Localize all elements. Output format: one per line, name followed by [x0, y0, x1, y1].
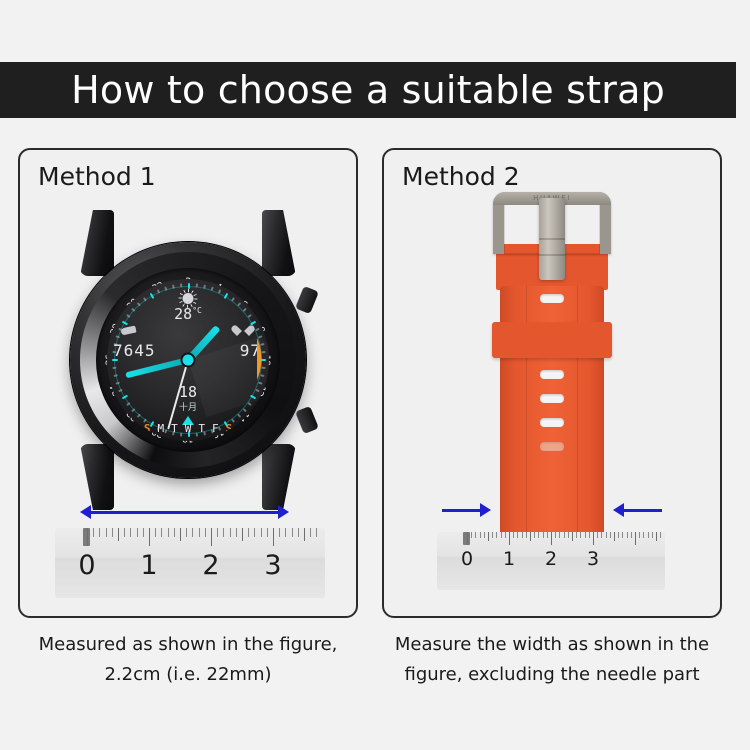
ruler-tick [614, 532, 615, 541]
ruler-tick [597, 532, 598, 538]
dial-tick [172, 284, 175, 288]
ruler-tick [292, 528, 293, 537]
ruler-method-2: 0123 [437, 532, 665, 590]
watch-lug-top-right [262, 210, 296, 276]
ruler-tick [576, 532, 577, 538]
ruler-tick [217, 528, 218, 537]
method-1-caption: Measured as shown in the figure, 2.2cm (… [18, 630, 358, 690]
ruler-tick [471, 532, 472, 538]
ruler-tick [304, 528, 305, 541]
caption-line-2: 2.2cm (i.e. 22mm) [18, 660, 358, 690]
method-2-caption: Measure the width as shown in the figure… [382, 630, 722, 690]
watch-lug-bottom-right [262, 444, 296, 510]
ruler-tick [627, 532, 628, 538]
watch-case: 1820222426283032246810121416 28°C 7645 [70, 242, 306, 478]
tongue-line-2 [539, 254, 565, 256]
ruler-tick [267, 528, 268, 537]
ruler-number: 1 [140, 550, 157, 581]
ruler-tick [509, 532, 510, 545]
ruler-tick [551, 532, 552, 545]
ruler-tick [137, 528, 138, 537]
ruler-tick [610, 532, 611, 538]
strap-hole [540, 294, 564, 303]
dial-tick [243, 308, 247, 312]
temperature-readout: 28°C [174, 305, 202, 323]
page-header-banner: How to choose a suitable strap [0, 62, 736, 118]
watch-dial: 28°C 7645 97 18 十月 SMTWTFS [107, 279, 269, 441]
ruler-tick [543, 532, 544, 538]
dial-tick [164, 286, 167, 290]
arrow-shaft-right [622, 509, 662, 512]
ruler-tick [205, 528, 206, 537]
ruler-number: 3 [264, 550, 281, 581]
watch-strap-illustration: HUAWEI [462, 192, 642, 542]
ruler-tick [547, 532, 548, 538]
ruler-number: 2 [545, 548, 557, 570]
smartwatch-illustration: 1820222426283032246810121416 28°C 7645 [58, 210, 318, 510]
watch-crown-upper[interactable] [295, 286, 319, 314]
method-1-panel: Method 1 1820222426283032246810121416 [18, 148, 358, 618]
ruler-tick [298, 528, 299, 537]
dial-tick [157, 289, 160, 293]
tongue-line-1 [539, 238, 565, 240]
ruler-tick [568, 532, 569, 538]
dial-tick [237, 302, 241, 306]
arrow-shaft-left [442, 509, 482, 512]
ruler-tick [534, 532, 535, 538]
dial-tick [237, 414, 241, 418]
ruler-tick [522, 532, 523, 538]
ruler-tick [155, 528, 156, 537]
watch-crown-lower[interactable] [295, 406, 319, 434]
temperature-value: 28 [174, 305, 192, 323]
ruler-tick [261, 528, 262, 537]
ruler-tick [93, 528, 94, 537]
ruler-tick [192, 528, 193, 537]
strap-keeper-loop [492, 322, 612, 358]
ruler-tick [199, 528, 200, 537]
ruler-tick [242, 528, 243, 541]
arrowhead-inward-left [480, 503, 491, 517]
ruler-tick [124, 528, 125, 537]
ruler-tick [254, 528, 255, 537]
sun-icon [183, 293, 194, 304]
ruler-tick [526, 532, 527, 538]
watch-bezel-ring: 1820222426283032246810121416 28°C 7645 [80, 252, 296, 468]
ruler-tick [580, 532, 581, 538]
strap-hole [540, 418, 564, 427]
ruler-tick [648, 532, 649, 538]
ruler-method-1: 0123 [55, 528, 325, 598]
ruler-tick [168, 528, 169, 537]
ruler-tick [87, 528, 88, 546]
strap-hole [540, 370, 564, 379]
weekday-1: M [157, 422, 164, 435]
ruler-tick [656, 532, 657, 541]
ruler-tick [660, 532, 661, 538]
ruler-tick [310, 528, 311, 537]
arrowhead-right [278, 505, 289, 519]
dial-tick [231, 297, 235, 301]
dial-tick [243, 408, 247, 412]
ruler-number: 0 [78, 550, 95, 581]
ruler-tick [143, 528, 144, 537]
ruler-tick [223, 528, 224, 537]
ruler-tick [492, 532, 493, 538]
ruler-tick [601, 532, 602, 538]
dial-tick [247, 314, 251, 318]
method-2-panel: Method 2 HUAWEI [382, 148, 722, 618]
method-2-label: Method 2 [402, 162, 520, 191]
caption-line-2: figure, excluding the needle part [382, 660, 722, 690]
ruler-tick [635, 532, 636, 545]
page-title: How to choose a suitable strap [71, 68, 665, 112]
ruler-tick [279, 528, 280, 537]
ruler-tick [248, 528, 249, 537]
ruler-tick [236, 528, 237, 537]
ruler-tick [467, 532, 468, 545]
ruler-tick [475, 532, 476, 538]
hand-pivot [183, 355, 194, 366]
ruler-tick [572, 532, 573, 541]
ruler-tick [559, 532, 560, 538]
ruler-tick [555, 532, 556, 538]
ruler-tick [112, 528, 113, 537]
ruler-tick [585, 532, 586, 538]
strap-hole [540, 442, 564, 451]
ruler-tick [161, 528, 162, 537]
ruler-tick [564, 532, 565, 538]
date-month: 十月 [179, 400, 197, 413]
ruler-tick [631, 532, 632, 538]
weekday-2: T [171, 422, 178, 435]
watch-lug-bottom-left [80, 444, 114, 510]
ruler-tick [538, 532, 539, 538]
ruler-tick [273, 528, 274, 546]
ruler-number: 2 [202, 550, 219, 581]
ruler-tick [606, 532, 607, 538]
date-complication: 18 十月 [179, 383, 197, 413]
ruler-tick [484, 532, 485, 538]
watch-lug-top-left [80, 210, 114, 276]
ruler-tick [643, 532, 644, 538]
ruler-tick [488, 532, 489, 541]
ruler-tick [589, 532, 590, 538]
ruler-tick [174, 528, 175, 537]
ruler-number: 0 [461, 548, 473, 570]
ruler-tick [186, 528, 187, 537]
ruler-tick [652, 532, 653, 538]
arrowhead-inward-right [613, 503, 624, 517]
ruler-tick [513, 532, 514, 538]
ruler-tick [622, 532, 623, 538]
heart-icon [237, 326, 249, 337]
temperature-unit: °C [192, 306, 202, 315]
arrow-shaft [89, 511, 278, 514]
watch-bezel-inner: 1820222426283032246810121416 28°C 7645 [96, 268, 280, 452]
ruler-tick [639, 532, 640, 538]
weekday-5: F [212, 422, 219, 435]
weekday-0: S [144, 422, 151, 435]
ruler-tick [593, 532, 594, 545]
progress-arc [257, 313, 269, 405]
ruler-number: 3 [587, 548, 599, 570]
ruler-tick [530, 532, 531, 541]
caption-line-1: Measure the width as shown in the [382, 630, 722, 660]
weekday-strip: SMTWTFS [144, 422, 232, 435]
ruler-tick [230, 528, 231, 537]
ruler-tick [316, 528, 317, 537]
ruler-tick [130, 528, 131, 537]
ruler-tick [285, 528, 286, 537]
ruler-tick [99, 528, 100, 537]
ruler-tick [517, 532, 518, 538]
ruler-tick [501, 532, 502, 538]
dial-tick [180, 283, 182, 287]
weekday-3: W [185, 422, 192, 435]
ruler-tick [211, 528, 212, 546]
weekday-6: S [226, 422, 233, 435]
weekday-4: T [198, 422, 205, 435]
method-1-label: Method 1 [38, 162, 156, 191]
ruler-tick [149, 528, 150, 546]
buckle-tongue [539, 198, 565, 280]
strap-hole [540, 394, 564, 403]
ruler-tick [496, 532, 497, 538]
ruler-tick [505, 532, 506, 538]
ruler-tick [180, 528, 181, 541]
ruler-tick [480, 532, 481, 538]
ruler-number: 1 [503, 548, 515, 570]
ruler-tick [118, 528, 119, 541]
step-count: 7645 [113, 341, 156, 360]
ruler-tick [106, 528, 107, 537]
ruler-tick [618, 532, 619, 538]
caption-line-1: Measured as shown in the figure, [18, 630, 358, 660]
